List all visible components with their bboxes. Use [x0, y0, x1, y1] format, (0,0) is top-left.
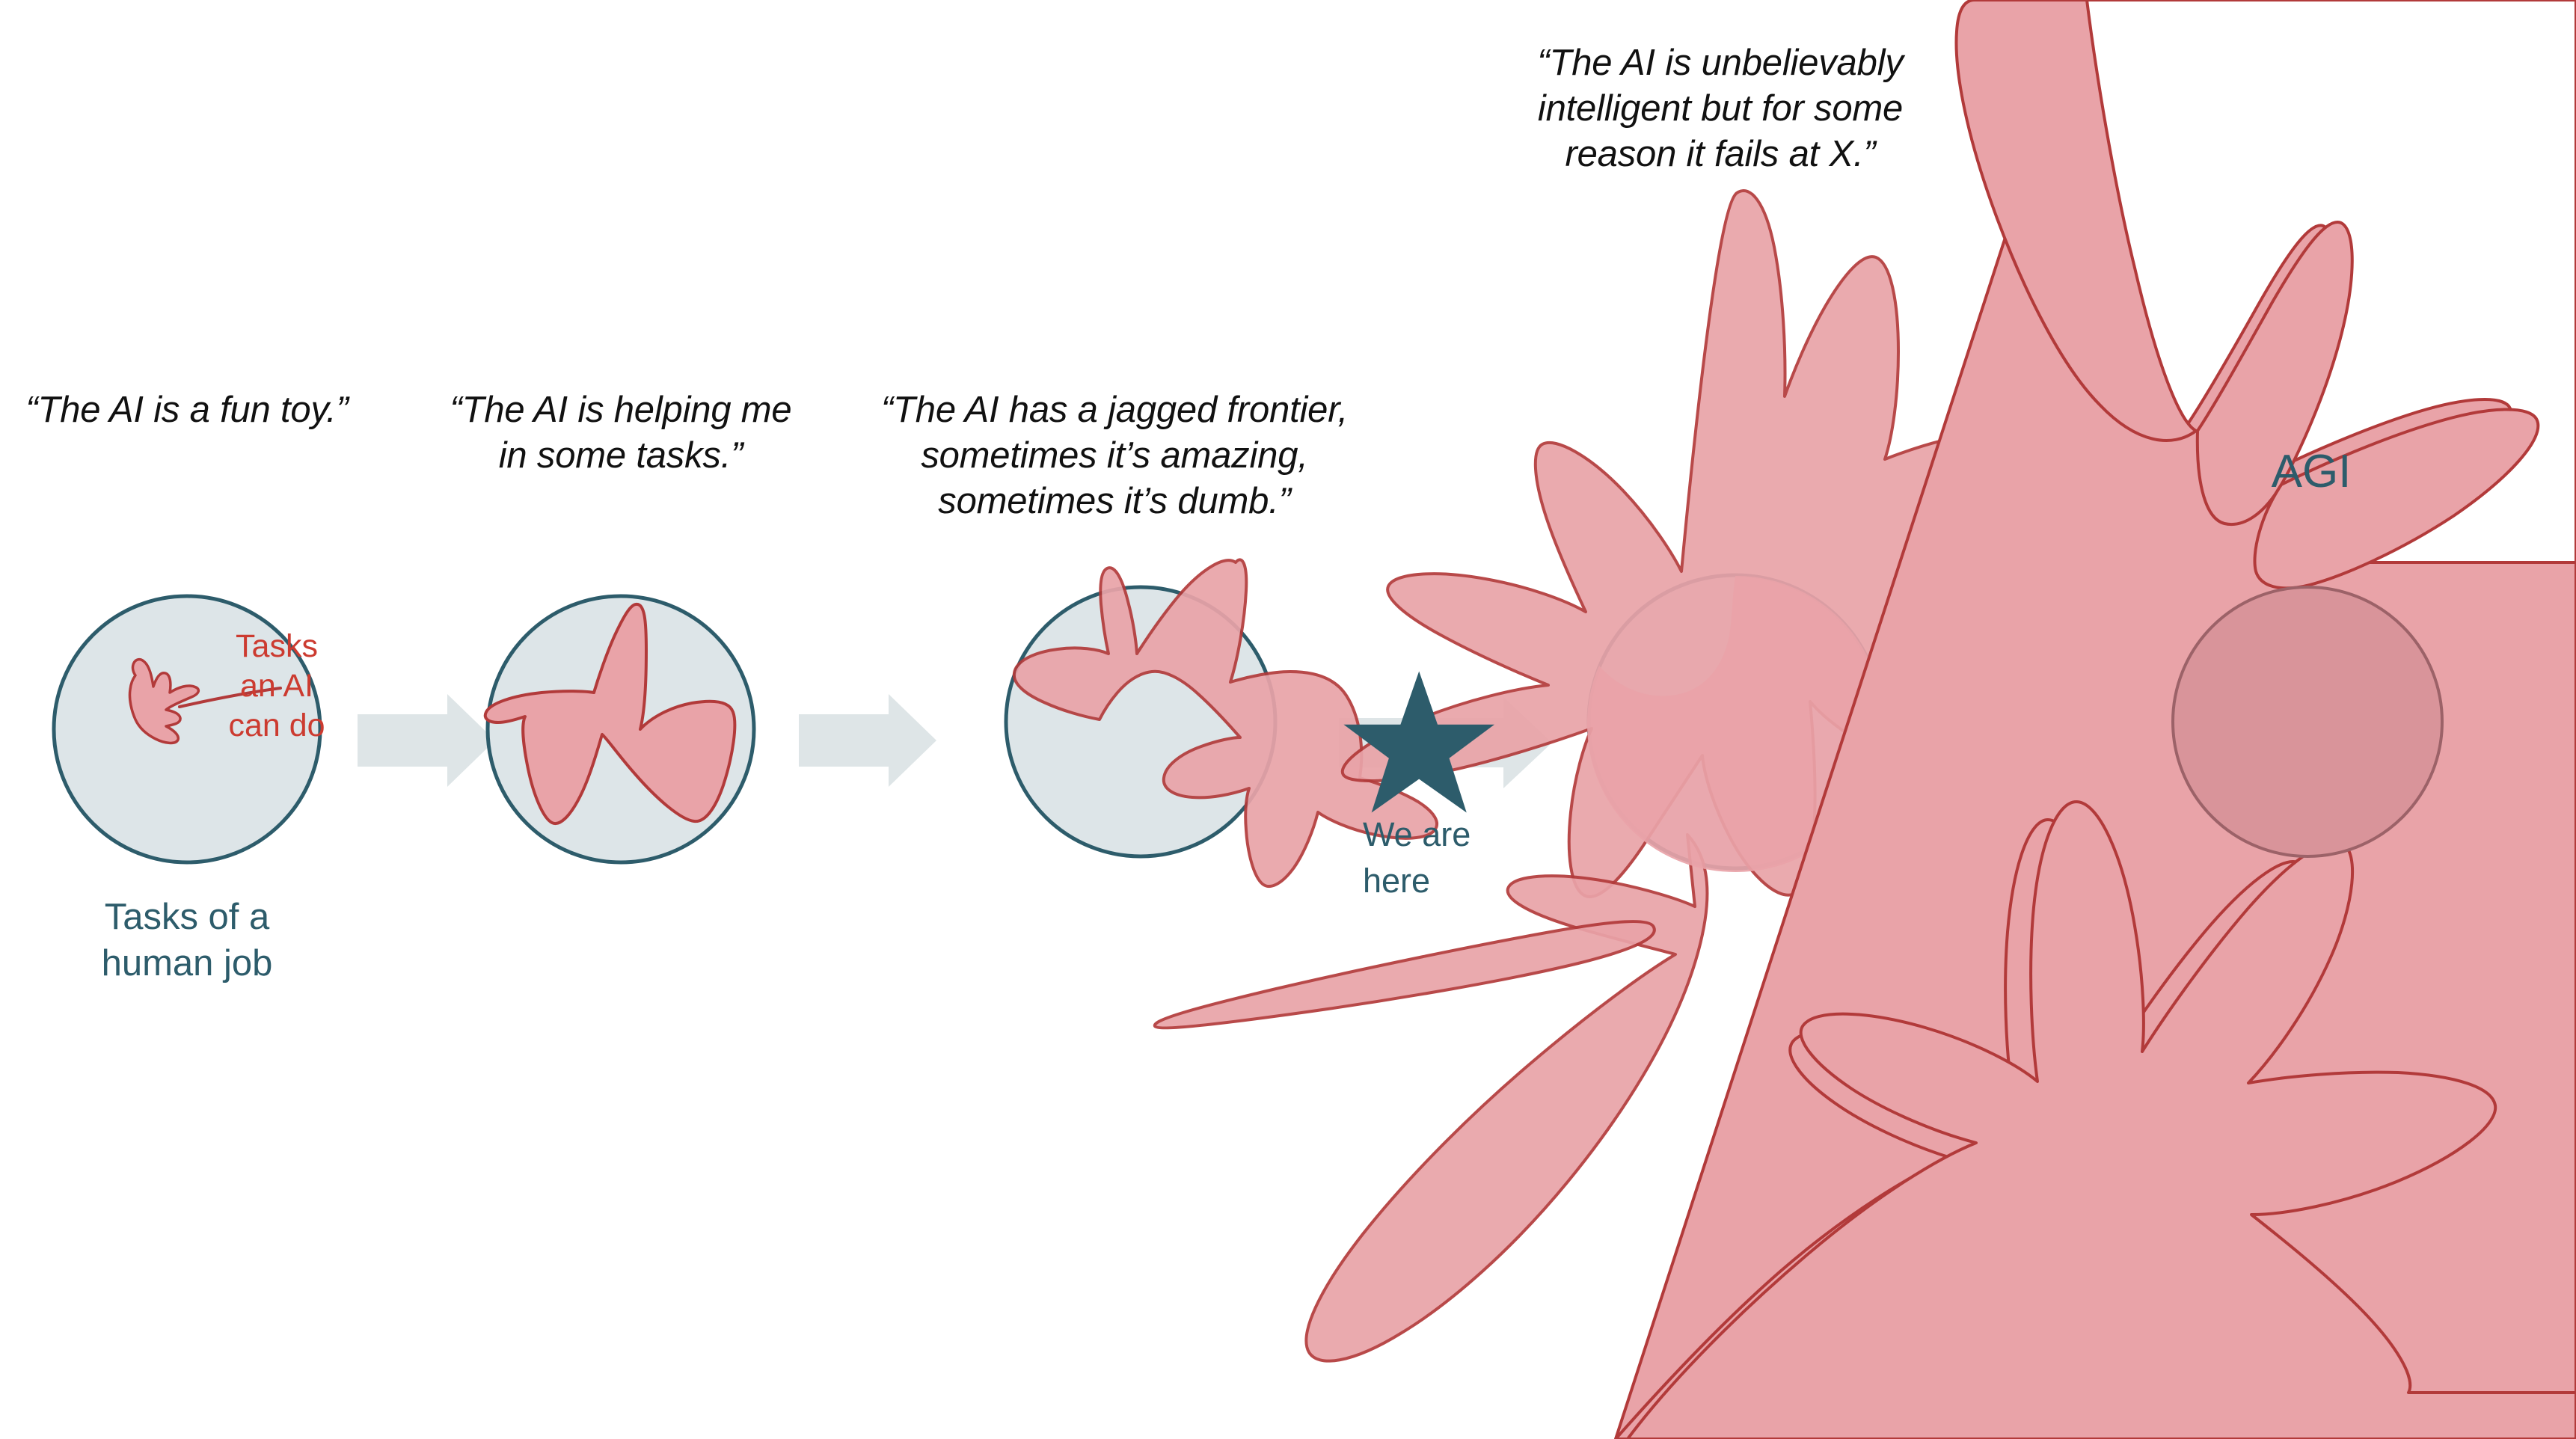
we-are-here-star-icon[interactable]: [1343, 671, 1494, 812]
marker-layer: [0, 0, 2576, 1439]
agi-label: AGI: [2229, 446, 2393, 498]
tasks-an-ai-can-do-label: Tasks an AI can do: [202, 627, 352, 746]
we-are-here-label: We are here: [1363, 811, 1542, 904]
caption-stage-1: “The AI is a fun toy.”: [0, 387, 374, 433]
caption-stage-4: “The AI is unbelievably intelligent but …: [1511, 40, 1930, 177]
tasks-of-a-human-job-label: Tasks of a human job: [60, 894, 314, 987]
diagram-canvas: “The AI is a fun toy.” “The AI is helpin…: [0, 0, 2576, 1439]
caption-stage-3: “The AI has a jagged frontier, sometimes…: [879, 387, 1350, 524]
caption-stage-2: “The AI is helping me in some tasks.”: [434, 387, 808, 479]
